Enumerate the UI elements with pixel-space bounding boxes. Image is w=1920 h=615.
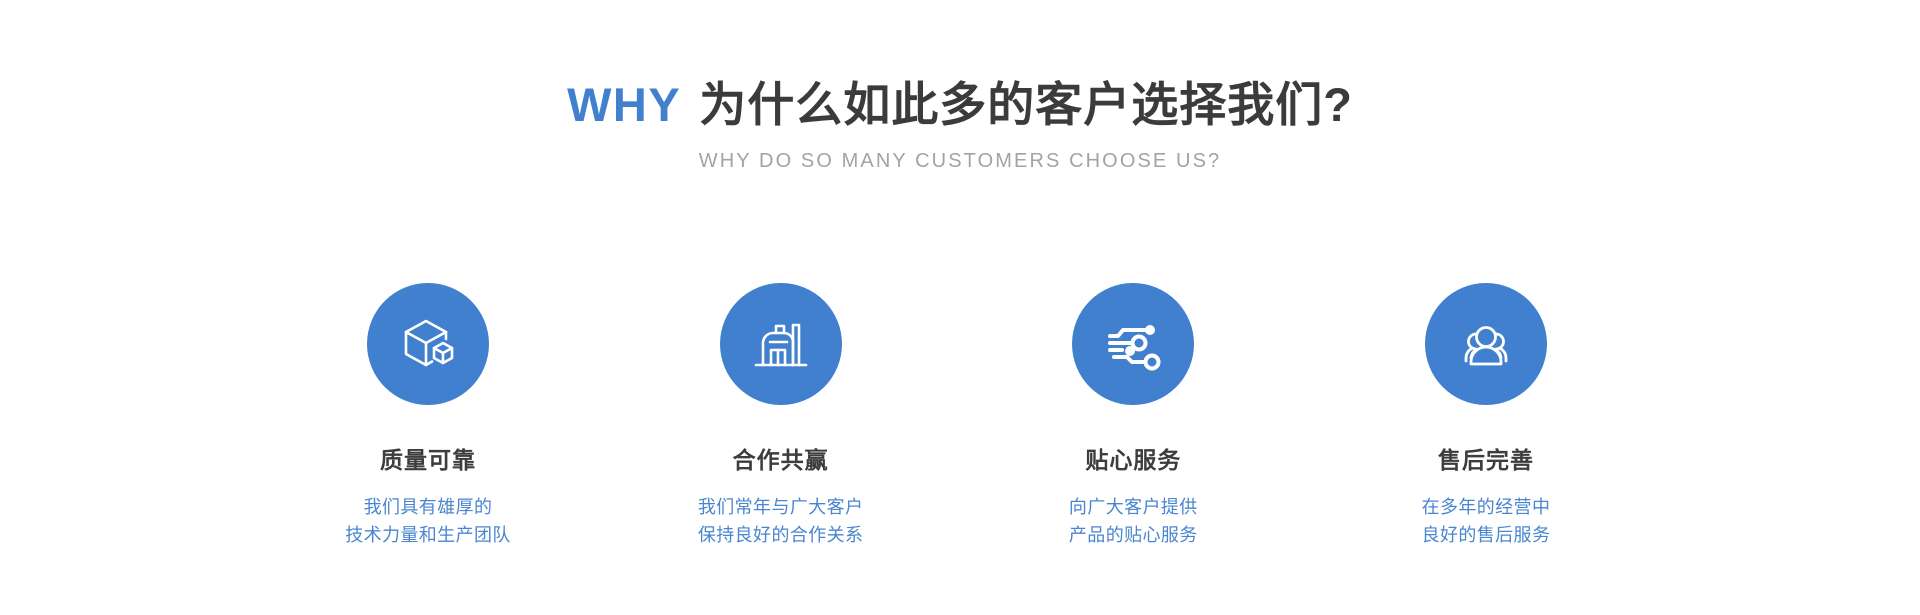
feature-title: 售后完善 [1438, 447, 1534, 475]
feature-description-line-2: 良好的售后服务 [1422, 521, 1551, 549]
title-chinese: 为什么如此多的客户选择我们? [699, 78, 1353, 131]
feature-description: 向广大客户提供 产品的贴心服务 [1069, 493, 1198, 549]
heading-block: WHY为什么如此多的客户选择我们? WHY DO SO MANY CUSTOME… [0, 78, 1920, 173]
feature-icon-circle [720, 283, 842, 405]
feature-description-line-1: 在多年的经营中 [1422, 493, 1551, 521]
feature-title: 合作共赢 [733, 447, 829, 475]
feature-card-cooperation[interactable]: 合作共赢 我们常年与广大客户 保持良好的合作关系 [656, 283, 906, 549]
feature-title: 质量可靠 [380, 447, 476, 475]
feature-description: 我们常年与广大客户 保持良好的合作关系 [698, 493, 864, 549]
title-why-word: WHY [567, 78, 681, 131]
feature-description: 在多年的经营中 良好的售后服务 [1422, 493, 1551, 549]
why-choose-us-section: WHY为什么如此多的客户选择我们? WHY DO SO MANY CUSTOME… [0, 0, 1920, 615]
feature-title: 贴心服务 [1085, 447, 1181, 475]
feature-list: 质量可靠 我们具有雄厚的 技术力量和生产团队 [303, 283, 1611, 549]
feature-icon-circle [1425, 283, 1547, 405]
package-box-icon [396, 312, 460, 376]
users-group-icon [1454, 312, 1518, 376]
feature-description-line-2: 保持良好的合作关系 [698, 521, 864, 549]
feature-description-line-1: 向广大客户提供 [1069, 493, 1198, 521]
circuit-nodes-icon [1101, 312, 1165, 376]
feature-icon-circle [1072, 283, 1194, 405]
feature-card-quality[interactable]: 质量可靠 我们具有雄厚的 技术力量和生产团队 [303, 283, 553, 549]
factory-icon [749, 312, 813, 376]
feature-description-line-2: 技术力量和生产团队 [345, 521, 511, 549]
feature-card-aftersales[interactable]: 售后完善 在多年的经营中 良好的售后服务 [1361, 283, 1611, 549]
page-title: WHY为什么如此多的客户选择我们? [0, 78, 1920, 132]
feature-description-line-1: 我们具有雄厚的 [345, 493, 511, 521]
feature-card-service[interactable]: 贴心服务 向广大客户提供 产品的贴心服务 [1008, 283, 1258, 549]
feature-description-line-2: 产品的贴心服务 [1069, 521, 1198, 549]
page-subtitle: WHY DO SO MANY CUSTOMERS CHOOSE US? [0, 150, 1920, 173]
feature-description: 我们具有雄厚的 技术力量和生产团队 [345, 493, 511, 549]
feature-description-line-1: 我们常年与广大客户 [698, 493, 864, 521]
feature-icon-circle [367, 283, 489, 405]
